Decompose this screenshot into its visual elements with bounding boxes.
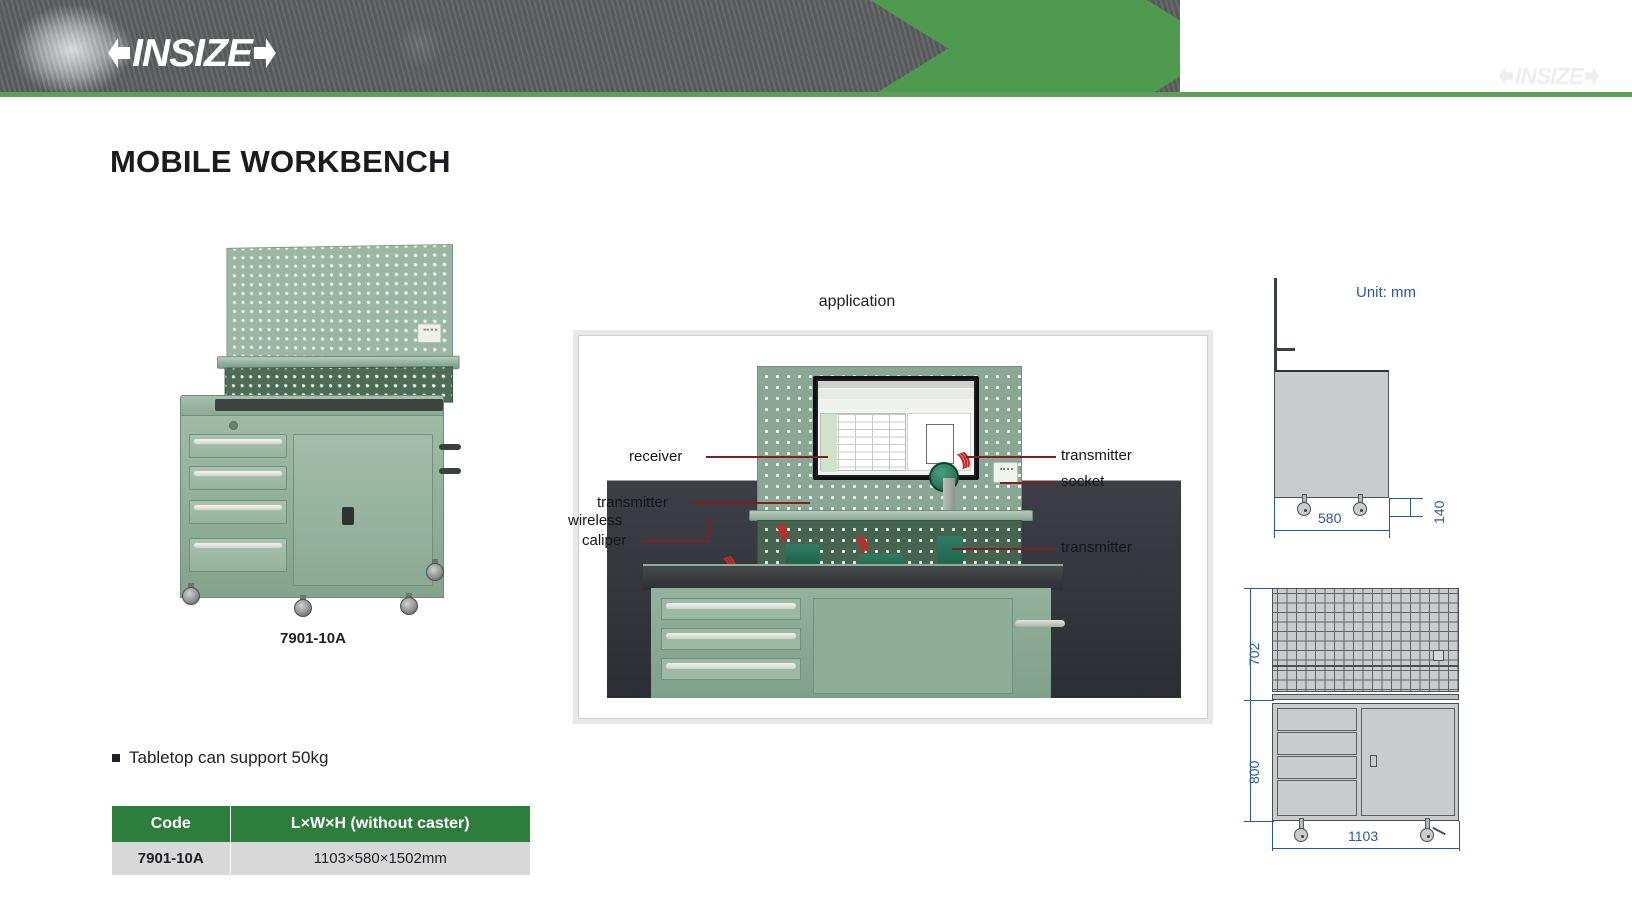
callout-transmitter-left: transmitter: [597, 494, 668, 511]
drawer: [189, 500, 287, 524]
dim-ext-top-140: [1389, 498, 1423, 499]
front-caster: [1420, 818, 1434, 842]
logo-text: INSIZE: [132, 34, 252, 73]
callout-wireless: wireless: [568, 512, 622, 529]
front-view-drawing: 702 800 1103: [1230, 558, 1480, 858]
dim-ext-left: [1274, 498, 1275, 538]
product-catalog-page: INSIZE INSIZE MOBILE WORKBENCH: [0, 0, 1632, 913]
dim-ext-1103-left: [1272, 821, 1273, 851]
side-caster: [1297, 494, 1311, 516]
page-header: INSIZE INSIZE: [0, 0, 1632, 97]
insize-logo: INSIZE: [97, 31, 287, 75]
side-handle: [439, 444, 461, 450]
pegboard-upper: [226, 244, 453, 368]
front-cabinet: [1272, 703, 1459, 821]
dim-ext-1103-right: [1459, 821, 1460, 851]
product-photo: [168, 243, 458, 623]
dim-label-1103: 1103: [1348, 828, 1378, 844]
dim-ext-800-bot: [1244, 821, 1274, 822]
app-drawer: [661, 598, 801, 620]
leader-line-caliper-vertical: [708, 516, 710, 542]
pegboard-socket-icon: [417, 323, 441, 343]
cabinet-lock-icon: [229, 421, 238, 430]
callout-transmitter-right-bottom: transmitter: [1061, 539, 1132, 556]
front-pegboard-lower: [1272, 666, 1459, 692]
bullet-square-icon: [112, 754, 120, 762]
application-photo: ))) ))) ))) ))): [607, 358, 1181, 698]
front-door-knob-icon: [1370, 755, 1377, 767]
callout-transmitter-right-top: transmitter: [1061, 447, 1132, 464]
app-bench-cabinet: [651, 588, 1051, 698]
dim-line-580: [1274, 530, 1389, 531]
drawer-handle: [193, 470, 283, 477]
cell-dimensions: 1103×580×1502mm: [230, 842, 530, 875]
front-drawer: [1277, 756, 1357, 779]
column-header-dimensions: L×W×H (without caster): [230, 806, 530, 842]
drawer-handle: [193, 542, 283, 549]
application-label: application: [819, 293, 896, 311]
side-shelf-arm: [1275, 348, 1295, 351]
leader-line-caliper: [642, 540, 708, 542]
side-cabinet-body: [1274, 370, 1389, 498]
dim-line-140: [1410, 498, 1411, 516]
callout-receiver: receiver: [629, 448, 682, 465]
dim-ext-bot-140: [1389, 516, 1423, 517]
bench-top: [180, 395, 444, 417]
watermark-right-arrow-icon: [1585, 67, 1599, 85]
app-monitor: [813, 376, 979, 480]
drawer: [189, 538, 287, 572]
caster: [400, 593, 418, 615]
side-caster: [1353, 494, 1367, 516]
side-pegboard-post: [1274, 278, 1277, 376]
caster: [182, 583, 200, 605]
cabinet-door: [293, 434, 433, 586]
dim-ext-right: [1389, 498, 1390, 538]
front-drawer: [1277, 780, 1357, 816]
callout-socket: socket: [1061, 473, 1104, 490]
leader-line-receiver: [706, 456, 828, 458]
app-side-rail: [1015, 620, 1065, 627]
app-monitor-screen: [818, 381, 974, 475]
drawer-handle: [193, 504, 283, 511]
front-pegboard-upper: [1272, 588, 1459, 666]
leader-line-transmitter-right-bottom: [952, 548, 1056, 550]
watermark-left-arrow-icon: [1499, 67, 1513, 85]
app-bench-top: [643, 564, 1063, 590]
app-drawer: [661, 628, 801, 650]
front-bench-top: [1272, 694, 1459, 700]
dim-label-580: 580: [1318, 510, 1341, 526]
leader-line-transmitter-left: [692, 502, 810, 504]
front-socket-icon: [1433, 650, 1444, 661]
side-handle: [439, 468, 461, 474]
insize-watermark-logo: INSIZE: [1468, 62, 1630, 90]
callout-caliper: caliper: [582, 532, 626, 549]
caster: [294, 595, 312, 617]
page-title: MOBILE WORKBENCH: [110, 144, 451, 180]
feature-bullet: Tabletop can support 50kg: [112, 748, 328, 768]
drawer: [189, 466, 287, 490]
dim-label-140: 140: [1431, 501, 1447, 524]
table-row: 7901-10A 1103×580×1502mm: [112, 842, 530, 875]
dim-ext-702-bot: [1244, 700, 1274, 701]
side-view-drawing: 580 140: [1255, 278, 1455, 528]
table-header-row: Code L×W×H (without caster): [112, 806, 530, 842]
column-header-code: Code: [112, 806, 230, 842]
drawer-handle: [193, 438, 283, 445]
dim-label-800: 800: [1246, 761, 1262, 784]
app-software-table: [820, 413, 906, 471]
app-drawer: [661, 658, 801, 680]
header-green-rule: [0, 92, 1632, 97]
dim-line-1103: [1272, 848, 1459, 849]
leader-line-transmitter-right-top: [966, 456, 1056, 458]
door-lock-icon: [342, 507, 354, 525]
spec-table: Code L×W×H (without caster) 7901-10A 110…: [112, 806, 530, 875]
drawer: [189, 434, 287, 458]
watermark-text: INSIZE: [1515, 65, 1583, 88]
leader-line-socket: [1000, 482, 1056, 484]
logo-left-arrow-icon: [108, 38, 130, 68]
logo-right-arrow-icon: [254, 38, 276, 68]
app-socket-icon: [993, 462, 1018, 483]
front-drawer: [1277, 732, 1357, 755]
app-cabinet-door: [813, 598, 1013, 694]
bench-mat: [215, 399, 443, 411]
caster: [426, 559, 444, 581]
front-cabinet-door: [1361, 708, 1455, 816]
bench-cabinet: [180, 415, 444, 598]
front-caster: [1294, 818, 1308, 842]
cell-code: 7901-10A: [112, 842, 230, 875]
feature-text: Tabletop can support 50kg: [129, 748, 328, 768]
front-drawer: [1277, 708, 1357, 731]
application-photo-frame: ))) ))) ))) ))): [578, 335, 1208, 719]
dim-label-702: 702: [1246, 643, 1262, 666]
product-caption: 7901-10A: [168, 630, 458, 647]
dim-ext-702-top: [1244, 588, 1274, 589]
